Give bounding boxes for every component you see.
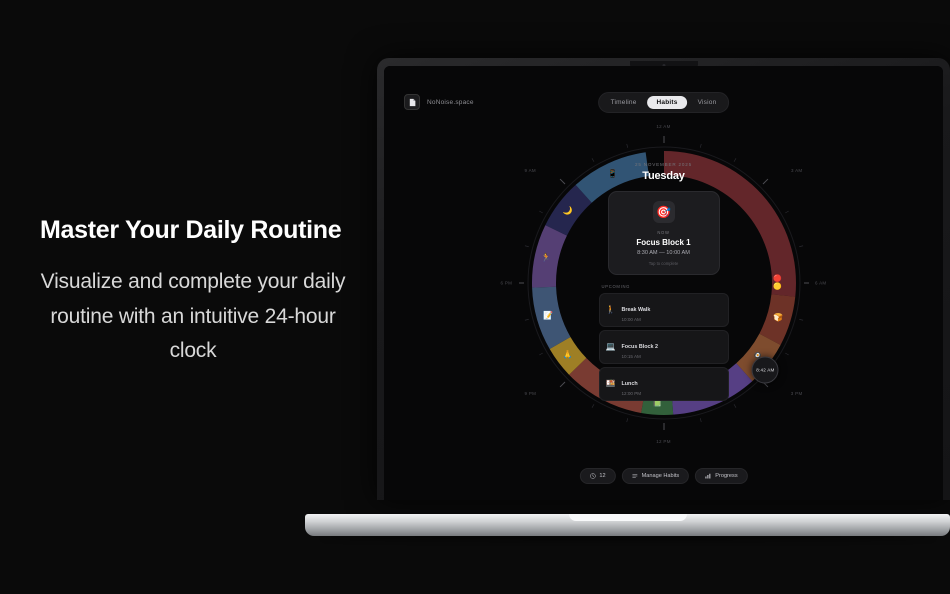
clock-tick <box>734 404 736 407</box>
marker-done[interactable]: 🟡 <box>773 283 782 290</box>
segment-icon-wake-routine: 🍞 <box>773 314 783 322</box>
upcoming-item-time: 10:00 AM <box>621 317 650 322</box>
upcoming-item-icon: 🚶 <box>606 306 616 314</box>
app-topbar: NoNoise.space Timeline Habits Vision <box>384 92 943 118</box>
segment-icon-evening-prep: 🙏 <box>563 351 573 359</box>
tick-3am: 3 AM <box>791 168 802 173</box>
segment-icon-reading: 🏃 <box>541 254 551 262</box>
app-bottom-toolbar: 12 Manage Habits Progress <box>579 468 747 484</box>
upcoming-item-title: Focus Block 2 <box>621 344 658 350</box>
clock-tick <box>592 158 594 161</box>
upcoming-item-time: 12:00 PM <box>621 391 641 396</box>
laptop-screen: NoNoise.space Timeline Habits Vision <box>384 66 943 500</box>
clock-tick <box>734 158 736 161</box>
now-hint: Tap to complete <box>617 261 711 266</box>
tab-timeline[interactable]: Timeline <box>602 96 646 109</box>
list-icon <box>632 473 638 479</box>
clock-tick <box>762 179 767 184</box>
progress-button[interactable]: Progress <box>695 468 747 484</box>
clock-tick <box>539 353 542 355</box>
clock-tick <box>799 319 803 320</box>
current-date: 25 NOVEMBER 2025 <box>599 162 729 167</box>
upcoming-list: 🚶Break Walk10:00 AM💻Focus Block 210:15 A… <box>599 293 729 401</box>
clock-tick <box>539 211 542 213</box>
page-logo-icon <box>404 94 420 110</box>
tick-3pm: 3 PM <box>791 391 803 396</box>
upcoming-item-icon: 💻 <box>606 343 616 351</box>
brand: NoNoise.space <box>404 94 474 110</box>
now-card[interactable]: 🎯 NOW Focus Block 1 8:30 AM — 10:00 AM T… <box>608 191 720 275</box>
upcoming-item[interactable]: 🍱Lunch12:00 PM <box>599 367 729 401</box>
tick-6am: 6 AM <box>815 281 826 286</box>
upcoming-item-title: Break Walk <box>621 307 650 313</box>
clock-tick <box>524 246 528 247</box>
tab-bar: Timeline Habits Vision <box>598 92 730 113</box>
upcoming-item-time: 10:15 AM <box>621 354 658 359</box>
clock-tick <box>785 211 788 213</box>
clock-tick <box>560 179 565 184</box>
tick-9am: 9 AM <box>525 168 536 173</box>
tick-9pm: 9 PM <box>525 391 537 396</box>
clock-center-panel: 25 NOVEMBER 2025 Tuesday 🎯 NOW Focus Blo… <box>599 162 729 404</box>
now-title: Focus Block 1 <box>617 238 711 247</box>
upcoming-item[interactable]: 💻Focus Block 210:15 AM <box>599 330 729 364</box>
manage-habits-label: Manage Habits <box>642 473 680 479</box>
page-subtitle: Visualize and complete your daily routin… <box>40 265 346 369</box>
clock-icon <box>589 473 595 479</box>
habit-count-label: 12 <box>599 473 605 479</box>
upcoming-item-title: Lunch <box>621 381 637 387</box>
app-window: NoNoise.space Timeline Habits Vision <box>384 66 943 500</box>
progress-label: Progress <box>715 473 737 479</box>
tab-vision[interactable]: Vision <box>689 96 726 109</box>
brand-name: NoNoise.space <box>427 99 474 106</box>
current-day: Tuesday <box>599 170 729 182</box>
tick-6pm: 6 PM <box>501 281 513 286</box>
laptop-mockup: NoNoise.space Timeline Habits Vision <box>305 58 950 536</box>
marker-alert[interactable]: 🔴 <box>773 276 782 283</box>
upcoming-item[interactable]: 🚶Break Walk10:00 AM <box>599 293 729 327</box>
now-time: 8:30 AM — 10:00 AM <box>617 250 711 256</box>
manage-habits-button[interactable]: Manage Habits <box>622 468 690 484</box>
segment-icon-night-rest: 🌙 <box>563 207 573 215</box>
clock-tick <box>700 144 701 148</box>
target-icon: 🎯 <box>653 201 675 223</box>
laptop-base <box>305 514 950 536</box>
laptop-lid: NoNoise.space Timeline Habits Vision <box>377 58 950 500</box>
clock-tick <box>560 382 565 387</box>
segment-icon-wind-down: 📝 <box>543 312 553 320</box>
upcoming-label: UPCOMING <box>602 284 729 289</box>
upcoming-item-icon: 🍱 <box>606 380 616 388</box>
clock-tick <box>700 418 701 422</box>
clock-tick <box>592 404 594 407</box>
tab-habits[interactable]: Habits <box>648 96 687 109</box>
habit-count-pill[interactable]: 12 <box>579 468 615 484</box>
clock-tick <box>785 353 788 355</box>
now-status: NOW <box>617 230 711 235</box>
tick-12am: 12 AM <box>656 124 670 129</box>
tick-12pm: 12 PM <box>656 439 671 444</box>
clock-tick <box>626 418 627 422</box>
bar-chart-icon <box>705 473 711 479</box>
current-time-badge[interactable]: 8:42 AM <box>752 357 779 384</box>
clock-tick <box>524 319 528 320</box>
clock-tick <box>799 246 803 247</box>
clock-tick <box>626 144 627 148</box>
